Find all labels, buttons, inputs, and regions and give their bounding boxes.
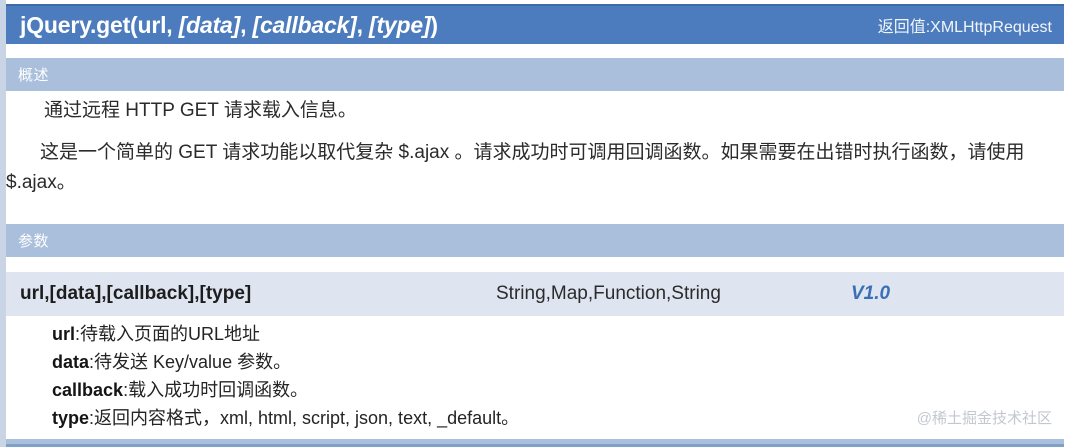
overview-paragraph-2: 这是一个简单的 GET 请求功能以取代复杂 $.ajax 。请求成功时可调用回调… (6, 138, 1064, 198)
section-label-overview: 概述 (18, 64, 49, 85)
signature-prefix: jQuery.get(url, (20, 12, 179, 38)
parameter-detail-list: url:待载入页面的URL地址 data:待发送 Key/value 参数。 c… (6, 320, 1064, 432)
parameter-detail-data-text: 待发送 Key/value 参数。 (94, 352, 291, 372)
overview-paragraph-1: 通过远程 HTTP GET 请求载入信息。 (6, 96, 1064, 138)
parameter-detail-url-key: url (52, 324, 75, 344)
signature-optional-callback: [callback] (253, 12, 357, 38)
api-title-bar: jQuery.get(url, [data], [callback], [typ… (6, 4, 1064, 44)
parameter-detail-url: url:待载入页面的URL地址 (52, 320, 1064, 348)
watermark: @稀土掘金技术社区 (917, 407, 1052, 428)
bottom-accent-bar (6, 439, 1064, 447)
return-value-label: 返回值:XMLHttpRequest (878, 13, 1052, 38)
parameter-types: String,Map,Function,String (496, 283, 851, 305)
signature-suffix: ) (430, 12, 437, 38)
signature-separator-2: , (357, 12, 369, 38)
api-signature-title: jQuery.get(url, [data], [callback], [typ… (20, 12, 438, 39)
parameter-detail-type-text: 返回内容格式，xml, html, script, json, text, _d… (94, 408, 519, 428)
signature-optional-data: [data] (179, 12, 240, 38)
section-label-params: 参数 (18, 230, 49, 251)
api-doc-page: jQuery.get(url, [data], [callback], [typ… (0, 0, 1070, 447)
overview-body: 通过远程 HTTP GET 请求载入信息。 这是一个简单的 GET 请求功能以取… (6, 96, 1064, 198)
parameter-detail-callback: callback:载入成功时回调函数。 (52, 376, 1064, 404)
parameter-detail-type-key: type (52, 408, 89, 428)
parameter-detail-callback-key: callback (52, 380, 123, 400)
section-header-params: 参数 (6, 224, 1064, 257)
parameter-detail-url-text: 待载入页面的URL地址 (80, 324, 260, 344)
parameter-detail-data: data:待发送 Key/value 参数。 (52, 348, 1064, 376)
parameter-signature: url,[data],[callback],[type] (6, 283, 496, 305)
parameter-detail-type: type:返回内容格式，xml, html, script, json, tex… (52, 404, 1064, 432)
parameter-detail-data-key: data (52, 352, 89, 372)
signature-optional-type: [type] (369, 12, 430, 38)
signature-separator-1: , (240, 12, 252, 38)
section-header-overview: 概述 (6, 58, 1064, 91)
parameter-detail-callback-text: 载入成功时回调函数。 (128, 380, 308, 400)
parameter-version-badge: V1.0 (851, 283, 890, 305)
parameter-summary-row: url,[data],[callback],[type] String,Map,… (6, 272, 1064, 316)
